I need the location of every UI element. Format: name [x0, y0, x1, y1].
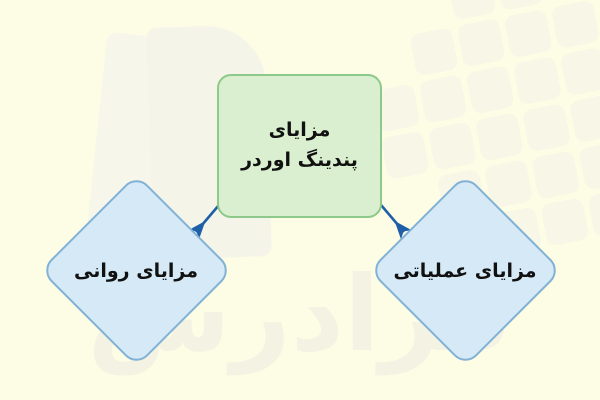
grid-cell	[456, 18, 505, 67]
diagram-canvas: فرادرس مزایای پندینگ اوردر مزایای روانی …	[0, 0, 600, 400]
grid-cell	[504, 9, 553, 58]
connector-root-to-left	[196, 205, 219, 232]
grid-cell	[513, 56, 562, 105]
grid-cell	[569, 94, 600, 143]
node-root[interactable]: مزایای پندینگ اوردر	[217, 74, 382, 218]
grid-cell	[494, 0, 543, 11]
grid-cell	[428, 121, 477, 170]
connector-root-to-right	[381, 205, 404, 232]
grid-cell	[578, 141, 600, 190]
grid-cell	[551, 0, 600, 49]
grid-cell	[475, 112, 524, 161]
node-left-label: مزایای روانی	[41, 260, 231, 283]
grid-cell	[540, 197, 589, 246]
node-root-line-2: پندینگ اوردر	[241, 149, 358, 173]
grid-cell	[560, 47, 600, 96]
grid-cell	[522, 103, 571, 152]
node-root-line-1: مزایای	[269, 119, 331, 143]
grid-cell	[531, 150, 580, 199]
grid-cell	[466, 65, 515, 114]
node-right-label: مزایای عملیاتی	[370, 260, 560, 283]
grid-cell	[409, 27, 458, 76]
grid-cell	[587, 188, 600, 237]
grid-cell	[447, 0, 496, 20]
grid-cell	[419, 74, 468, 123]
grid-cell	[381, 131, 430, 180]
